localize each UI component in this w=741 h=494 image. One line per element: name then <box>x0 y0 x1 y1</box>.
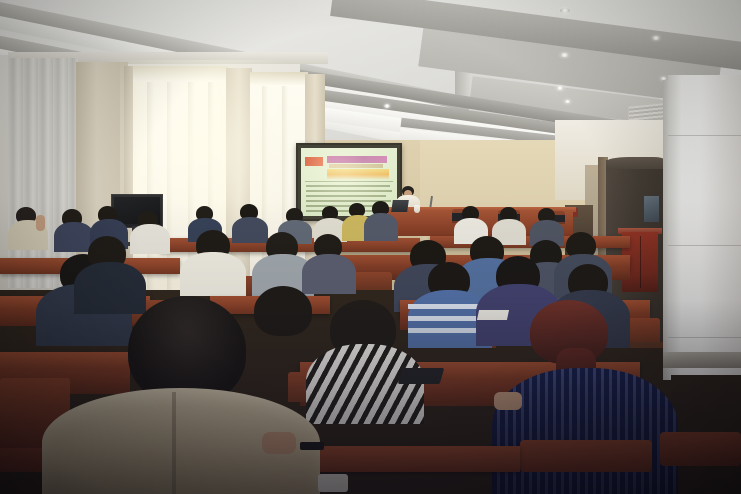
downlight-icon <box>652 36 660 40</box>
downlight-icon <box>384 104 390 108</box>
jacket-seam <box>172 392 176 494</box>
downlight-icon <box>560 53 569 57</box>
wall-speaker-icon <box>644 196 659 222</box>
attendee-body <box>364 213 398 241</box>
door-top-edge <box>606 157 664 169</box>
attendee-body <box>130 224 170 254</box>
laptop[interactable] <box>391 200 409 212</box>
desk-row-1b <box>290 446 520 472</box>
paper-sheet <box>318 474 348 492</box>
water-cup <box>414 205 420 213</box>
attendee-body <box>74 262 146 314</box>
pen <box>300 442 324 450</box>
attendee-body <box>302 254 356 294</box>
attendee-hand <box>36 215 45 231</box>
attendee-white-shirt-b <box>180 252 246 296</box>
curtain-drape-left[interactable] <box>8 58 78 288</box>
downlight-icon <box>564 100 571 103</box>
pillar-panel-seam <box>668 245 741 246</box>
pillar-base-skirting <box>663 352 741 368</box>
downlight-icon <box>556 86 564 90</box>
attendee-ponytail-blue <box>492 368 678 494</box>
attendee-hand <box>262 432 296 454</box>
pillar-panel-seam <box>668 135 741 136</box>
pillar-panel-seam <box>668 337 741 338</box>
structural-pillar <box>668 75 741 375</box>
downlight-icon <box>560 8 570 13</box>
attendee-zebra-print <box>306 344 424 424</box>
attendee-hand <box>494 392 522 410</box>
tablet-device <box>398 368 445 384</box>
notebook <box>477 310 509 320</box>
cabinet-door-seam <box>640 236 641 288</box>
attendee-head <box>254 286 312 336</box>
chair-back[interactable] <box>520 440 652 472</box>
conference-room-photo <box>0 0 741 494</box>
chair-back[interactable] <box>660 432 741 466</box>
attendee-body <box>232 217 268 243</box>
